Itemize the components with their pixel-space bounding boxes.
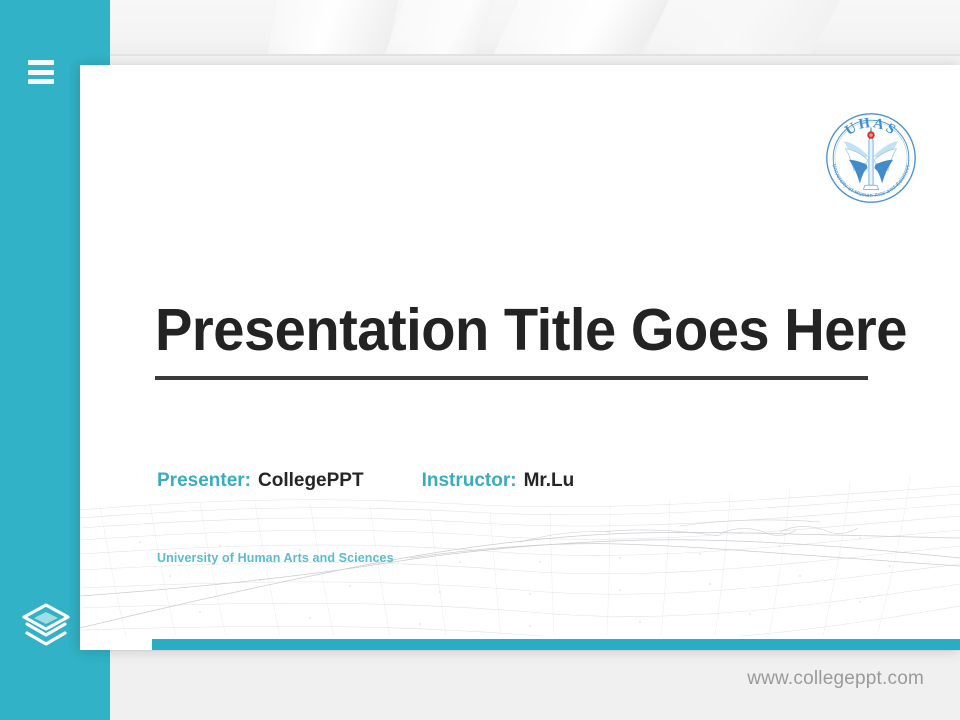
footer-website-url: www.collegeppt.com bbox=[747, 668, 924, 690]
footer-bar: www.collegeppt.com bbox=[110, 650, 960, 720]
slide-card: University of Human Arts and Sciences UH… bbox=[80, 65, 960, 650]
page-title: Presentation Title Goes Here bbox=[155, 300, 834, 362]
hamburger-bar bbox=[28, 60, 54, 65]
title-underline-rule bbox=[155, 376, 868, 380]
footer-divider bbox=[110, 650, 960, 651]
title-block: Presentation Title Goes Here bbox=[155, 300, 870, 380]
background-band-edge bbox=[110, 54, 960, 56]
hamburger-menu-icon[interactable] bbox=[28, 60, 54, 84]
slide-stage: www.collegeppt.com bbox=[0, 0, 960, 720]
instructor-value: Mr.Lu bbox=[524, 470, 575, 492]
card-bottom-accent-bar bbox=[152, 639, 960, 650]
presenter-label: Presenter: bbox=[157, 470, 251, 492]
instructor-label: Instructor: bbox=[422, 470, 517, 492]
byline: Presenter: CollegePPT Instructor: Mr.Lu bbox=[157, 470, 574, 492]
layers-stack-icon[interactable] bbox=[20, 600, 72, 648]
hamburger-bar bbox=[28, 79, 54, 84]
university-caption: University of Human Arts and Sciences bbox=[157, 551, 394, 565]
uhas-university-logo-icon: University of Human Arts and Sciences UH… bbox=[820, 107, 922, 209]
presenter-value: CollegePPT bbox=[258, 470, 364, 492]
background-band bbox=[0, 0, 960, 56]
hamburger-bar bbox=[28, 70, 54, 75]
